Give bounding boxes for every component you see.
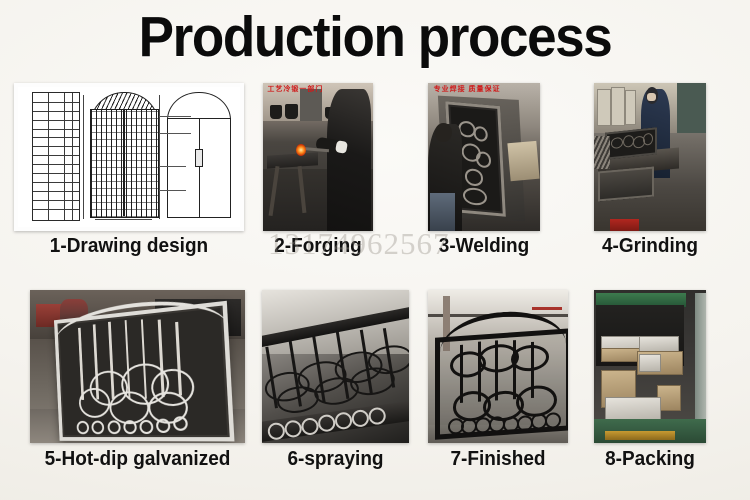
step-image-7[interactable] <box>428 290 568 443</box>
step-caption-8: 8-Packing <box>597 446 703 472</box>
step-card-2[interactable]: 工艺冷锻一部门 2-Forging <box>263 83 373 273</box>
step-caption-1: 1-Drawing design <box>20 233 239 259</box>
step-image-2-overlay-text: 工艺冷锻一部门 <box>267 84 323 94</box>
step-image-6[interactable] <box>262 290 409 443</box>
step-caption-7: 7-Finished <box>432 446 565 472</box>
step-card-4[interactable]: 4-Grinding <box>594 83 706 273</box>
poster-canvas: Production process <box>0 0 750 500</box>
step-image-8[interactable] <box>594 290 706 443</box>
step-card-1[interactable]: 1-Drawing design <box>14 83 244 273</box>
step-caption-3: 3-Welding <box>431 233 537 259</box>
step-caption-4: 4-Grinding <box>597 233 703 259</box>
step-image-2[interactable]: 工艺冷锻一部门 <box>263 83 373 231</box>
step-image-4[interactable] <box>594 83 706 231</box>
step-image-5[interactable] <box>30 290 245 443</box>
drawing-section-view <box>166 92 230 216</box>
step-caption-2: 2-Forging <box>266 233 371 259</box>
step-image-3-overlay-text: 专业焊接 质量保证 <box>434 84 501 94</box>
step-image-3[interactable]: 专业焊接 质量保证 <box>428 83 540 231</box>
step-card-7[interactable]: 7-Finished <box>428 290 568 485</box>
step-caption-6: 6-spraying <box>266 446 406 472</box>
drawing-elevation-view <box>90 92 157 216</box>
step-image-1[interactable] <box>14 83 244 231</box>
page-title: Production process <box>26 4 724 70</box>
step-card-3[interactable]: 专业焊接 质量保证 3-Welding <box>428 83 540 273</box>
step-caption-5: 5-Hot-dip galvanized <box>35 446 239 472</box>
step-card-8[interactable]: 8-Packing <box>594 290 706 485</box>
step-card-5[interactable]: 5-Hot-dip galvanized <box>30 290 245 485</box>
step-card-6[interactable]: 6-spraying <box>262 290 409 485</box>
drawing-spec-table <box>32 92 80 221</box>
